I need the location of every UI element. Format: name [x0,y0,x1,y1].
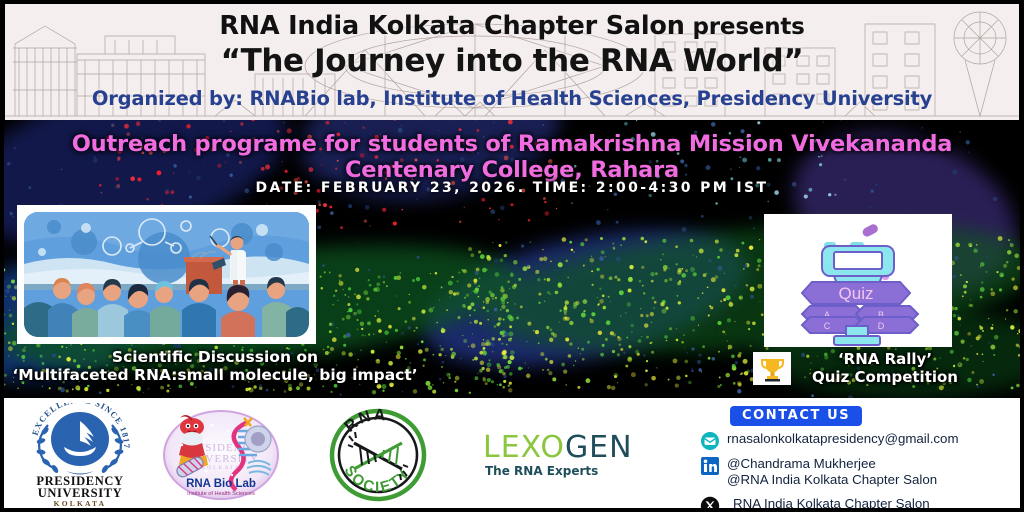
seminar-illustration-card [17,205,316,344]
event-title: “The Journey into the RNA World” [5,41,1019,79]
contact-linkedin[interactable]: @Chandrama Mukherjee @RNA India Kolkata … [727,456,937,487]
lexogen-part-1: LE [483,430,521,465]
rnabio-subtitle: Institute of Health Sciences [187,491,255,497]
quiz-podium-illustration: Quiz A B C D [764,214,952,347]
quiz-illustration-card: Quiz A B C D [764,214,952,347]
left-caption-line-1: Scientific Discussion on [0,348,430,366]
header-text-block: RNA India Kolkata Chapter Salon presents… [5,4,1019,110]
x-twitter-icon [700,496,720,512]
organized-by-line: Organized by: RNABio lab, Institute of H… [5,79,1019,110]
quiz-option-d: D [878,321,885,331]
contact-email[interactable]: rnasalonkolkatapresidency@gmail.com [727,431,959,447]
svg-text:LEXOGEN: LEXOGEN [483,430,633,465]
email-icon [700,431,720,451]
contact-x-handle[interactable]: RNA India Kolkata Chapter Salon [733,496,930,512]
lexogen-part-3: O [540,430,565,465]
left-panel-caption: Scientific Discussion on ‘Multifaceted R… [0,348,430,384]
quiz-option-c: C [824,321,831,331]
rnabio-name: RNA Bio Lab [186,478,256,490]
right-caption-line-2: Quiz Competition [760,368,1010,386]
poster-root: RNA India Kolkata Chapter Salon presents… [0,0,1024,512]
right-panel-caption: ‘RNA Rally’ Quiz Competition [760,350,1010,386]
contact-linkedin-line-2: @RNA India Kolkata Chapter Salon [727,472,937,487]
event-datetime: DATE: FEBRUARY 23, 2026. TIME: 2:00-4:30… [0,180,1024,196]
contact-row-x[interactable]: RNA India Kolkata Chapter Salon [700,496,1020,512]
page-title: RNA India Kolkata Chapter Salon presents [5,4,1019,41]
lexogen-part-2: X [521,430,541,465]
footer-logo-strip: EXCELLENCE SINCE 1817 [0,398,1024,512]
linkedin-icon [700,456,720,476]
lexogen-logo: LEXOGEN The RNA Experts [483,430,683,482]
seminar-illustration [24,212,309,337]
contact-row-email[interactable]: rnasalonkolkatapresidency@gmail.com [700,431,1020,451]
title-light-part: presents [685,14,805,40]
contact-row-linkedin[interactable]: @Chandrama Mukherjee @RNA India Kolkata … [700,456,1020,487]
contact-us-heading: CONTACT US [730,406,862,426]
outreach-heading: Outreach programe for students of Ramakr… [0,131,1024,183]
contact-block: CONTACT US rnasalonkolkatapresidency@gma… [700,406,1020,512]
presidency-name-line-3: KOLKATA [54,499,107,508]
presidency-university-logo: EXCELLENCE SINCE 1817 [18,403,142,509]
contact-linkedin-line-1: @Chandrama Mukherjee [727,456,876,471]
rna-bio-lab-logo: PRESIDENCY UNIVERSITY KOLKATA [162,405,280,505]
right-caption-line-1: ‘RNA Rally’ [760,350,1010,368]
lexogen-part-4: GEN [565,430,633,465]
title-bold-part: RNA India Kolkata Chapter Salon [219,11,684,41]
rna-society-logo: RNA SOCIETY [328,406,428,504]
presidency-name-line-2: UNIVERSITY [38,486,123,500]
left-caption-line-2: ‘Multifaceted RNA:small molecule, big im… [0,366,430,384]
outreach-line-1: Outreach programe for students of Ramakr… [0,131,1024,157]
header-banner: RNA India Kolkata Chapter Salon presents… [5,4,1019,120]
quiz-banner-label: Quiz [839,284,874,303]
lexogen-tagline: The RNA Experts [485,464,598,478]
